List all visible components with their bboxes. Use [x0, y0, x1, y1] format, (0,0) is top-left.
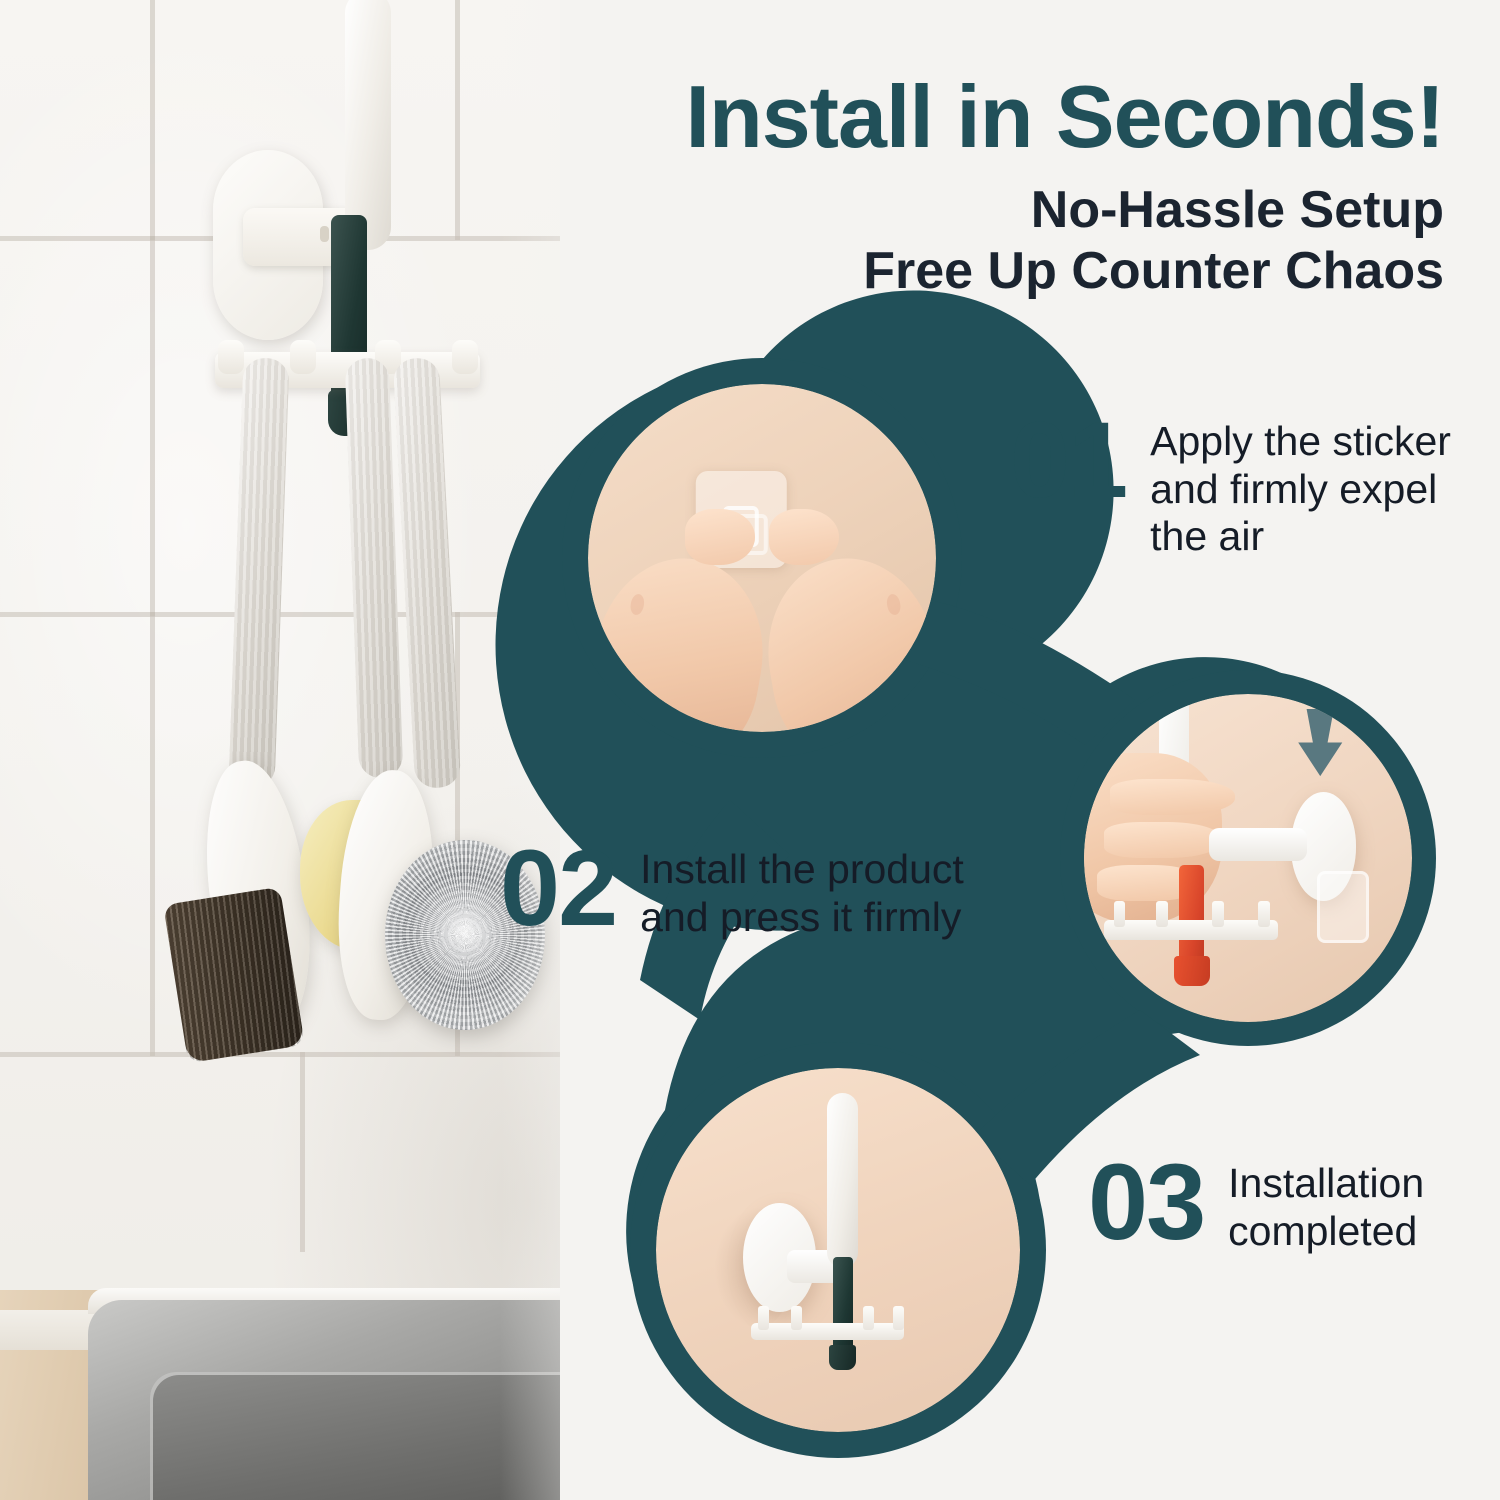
step-3-photo-bubble: [656, 1068, 1020, 1432]
step-2-text: Install the product and press it firmly: [640, 838, 964, 941]
step-1-label: 01 Apply the sticker and firmly expel th…: [1010, 410, 1451, 561]
right-index-finger: [769, 509, 839, 565]
hook-mount-arm: [1209, 828, 1307, 861]
step-1-number: 01: [1010, 410, 1126, 509]
rail-prong: [1212, 901, 1224, 927]
rail-prong: [863, 1306, 874, 1330]
step-1-photo-bubble: [588, 384, 936, 732]
finger: [1110, 779, 1235, 815]
step-1-text: Apply the sticker and firmly expel the a…: [1150, 410, 1451, 561]
step-3-number: 03: [1088, 1152, 1204, 1251]
rail-prong: [758, 1306, 769, 1330]
white-brush-handle: [827, 1093, 858, 1268]
step-2-label: 02 Install the product and press it firm…: [500, 838, 964, 941]
orange-tool-handle: [1179, 865, 1204, 970]
step-3-photo: [656, 1068, 1020, 1432]
orange-handle-cap: [1174, 956, 1210, 986]
knuckle-detail: [629, 593, 646, 615]
rail-prong: [1156, 901, 1168, 927]
press-down-arrow-icon: [1294, 707, 1346, 779]
finger: [1104, 822, 1222, 858]
rail-prong: [791, 1306, 802, 1330]
step-2-photo-bubble: [1084, 694, 1412, 1022]
step-3-label: 03 Installation completed: [1088, 1152, 1424, 1255]
rail-prong: [1258, 901, 1270, 927]
hook-rail: [751, 1323, 904, 1340]
adhesive-sticker-on-wall: [1317, 871, 1369, 943]
dark-handle-cap: [829, 1345, 856, 1370]
rail-prong: [893, 1306, 904, 1330]
rail-prong: [1114, 901, 1126, 927]
step-3-text: Installation completed: [1228, 1152, 1424, 1255]
infographic-canvas: Install in Seconds! No-Hassle SetupFree …: [0, 0, 1500, 1500]
hook-rail: [1104, 920, 1278, 940]
step-2-photo: [1084, 694, 1412, 1022]
knuckle-detail: [885, 593, 902, 615]
left-index-finger: [685, 509, 755, 565]
step-2-number: 02: [500, 838, 616, 937]
step-1-photo: [588, 384, 936, 732]
